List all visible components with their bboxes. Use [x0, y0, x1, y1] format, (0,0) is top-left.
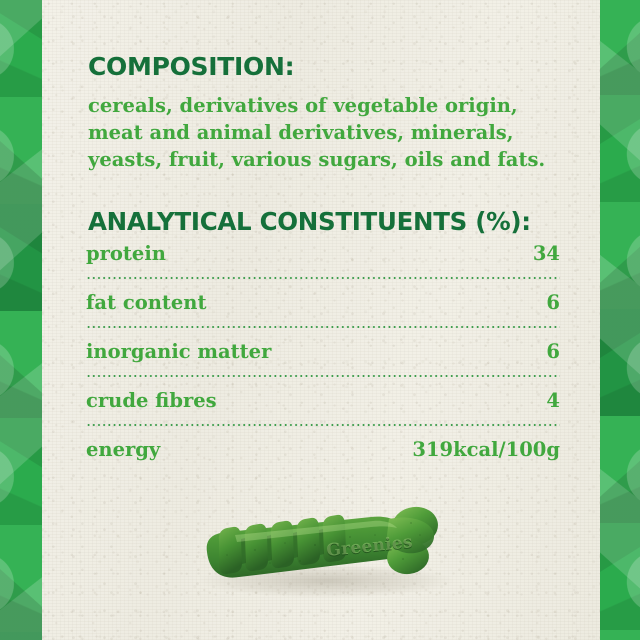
treat-fin — [297, 518, 320, 565]
row-value: 6 — [546, 289, 560, 315]
table-row: energy 319kcal/100g — [86, 436, 560, 485]
analytical-constituents-table: protein 34 fat content 6 inorganic matte… — [86, 240, 560, 485]
table-row: fat content 6 — [86, 289, 560, 338]
row-separator-dots — [86, 277, 560, 279]
row-separator-dots — [86, 375, 560, 377]
treat-fin — [245, 524, 268, 571]
row-label: energy — [86, 436, 160, 462]
table-row: crude fibres 4 — [86, 387, 560, 436]
analytical-constituents-heading: ANALYTICAL CONSTITUENTS (%): — [88, 207, 531, 236]
row-separator-dots — [86, 326, 560, 328]
row-value: 4 — [546, 387, 560, 413]
composition-heading: COMPOSITION: — [88, 52, 294, 81]
row-value: 34 — [533, 240, 560, 266]
row-label: inorganic matter — [86, 338, 271, 364]
row-label: protein — [86, 240, 166, 266]
row-separator-dots — [86, 424, 560, 426]
composition-body-text: cereals, derivatives of vegetable origin… — [88, 92, 566, 173]
greenies-dental-chew-image: Greenies Greenies — [175, 495, 475, 615]
treat-fin — [271, 521, 294, 568]
treat-fin — [219, 527, 242, 574]
table-row: protein 34 — [86, 240, 560, 289]
row-label: fat content — [86, 289, 206, 315]
row-value: 6 — [546, 338, 560, 364]
table-row: inorganic matter 6 — [86, 338, 560, 387]
content-area: COMPOSITION: cereals, derivatives of veg… — [0, 0, 640, 640]
row-value: 319kcal/100g — [412, 436, 560, 462]
row-label: crude fibres — [86, 387, 217, 413]
